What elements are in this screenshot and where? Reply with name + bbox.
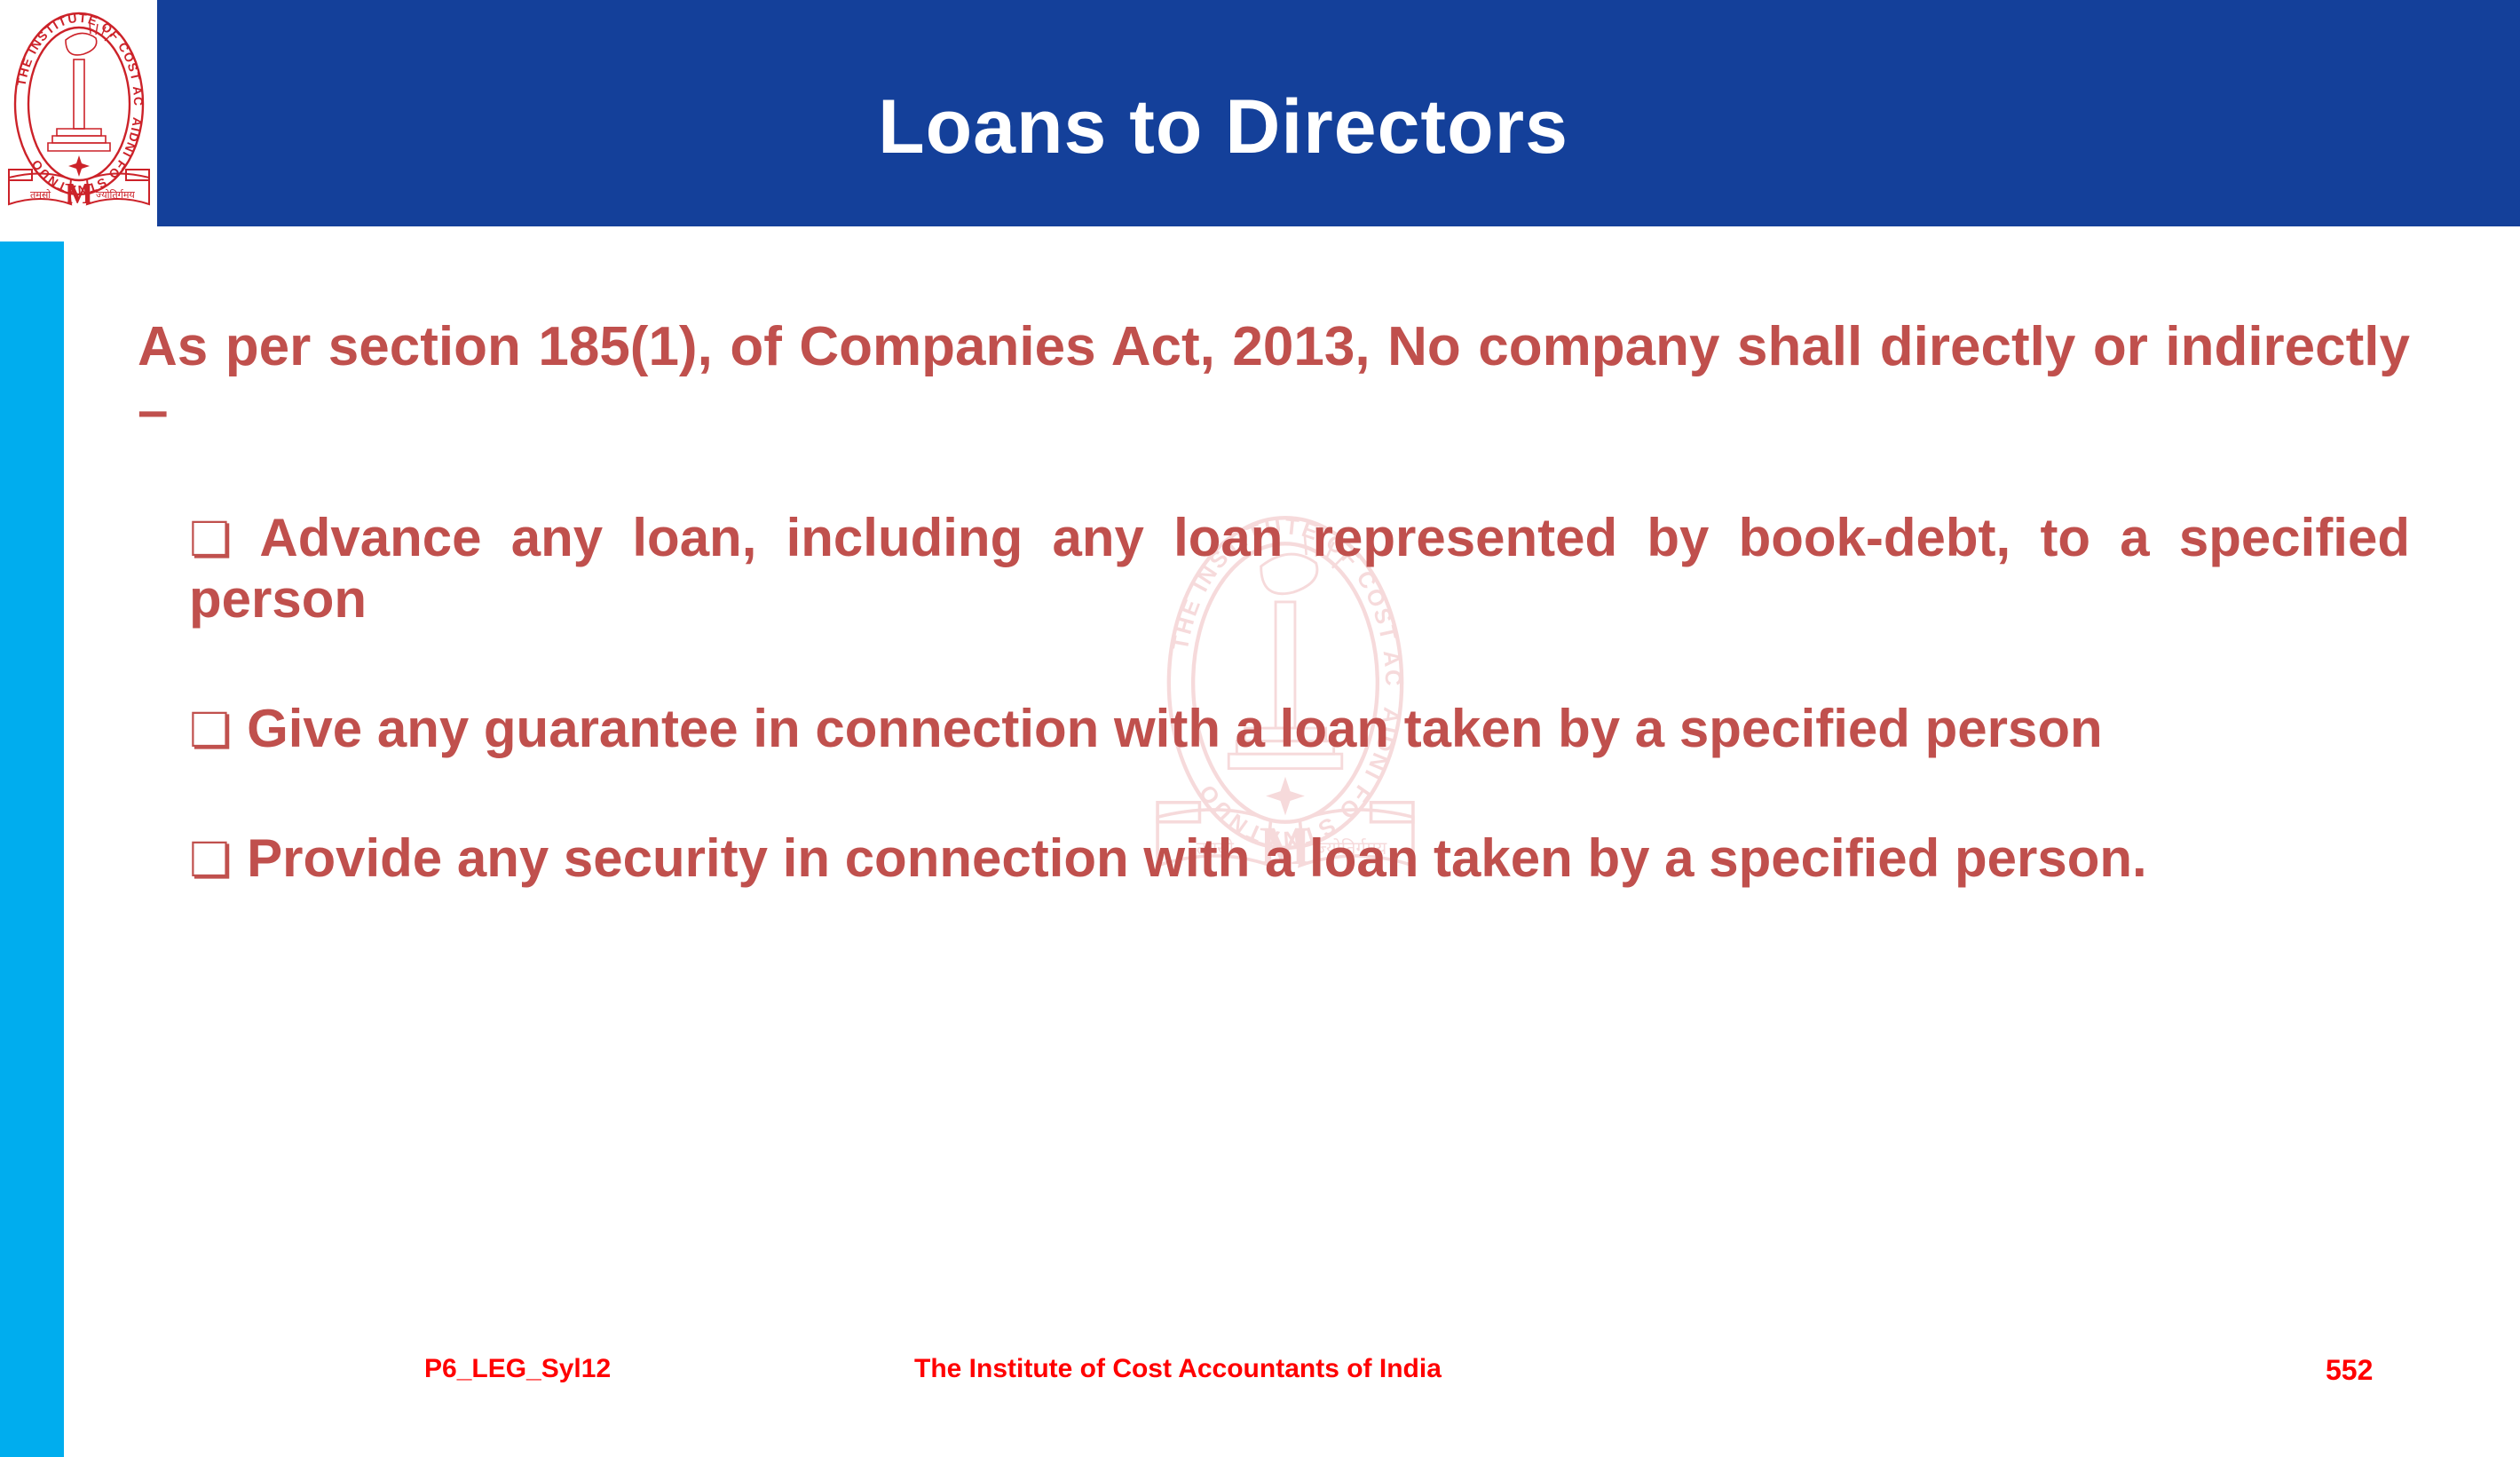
footer-subject-code: P6_LEG_Syl12 bbox=[424, 1354, 611, 1384]
footer-page-number: 552 bbox=[2326, 1354, 2373, 1387]
list-item: ❏ Advance any loan, including any loan r… bbox=[189, 507, 2410, 630]
slide-body: As per section 185(1), of Companies Act,… bbox=[138, 315, 2410, 889]
list-item: ❏ Provide any security in connection wit… bbox=[189, 827, 2410, 890]
svg-text:M: M bbox=[64, 178, 92, 210]
svg-text:तमसो: तमसो bbox=[30, 189, 51, 201]
slide: Loans to Directors bbox=[0, 0, 2520, 1457]
list-item: ❏ Give any guarantee in connection with … bbox=[189, 698, 2410, 760]
slide-footer: P6_LEG_Syl12 The Institute of Cost Accou… bbox=[0, 1354, 2520, 1416]
lead-paragraph: As per section 185(1), of Companies Act,… bbox=[138, 315, 2410, 443]
bullet-list: ❏ Advance any loan, including any loan r… bbox=[138, 507, 2410, 889]
svg-text:ज्योतिर्गमय: ज्योतिर्गमय bbox=[96, 189, 135, 201]
checkbox-bullet-icon: ❏ bbox=[189, 511, 232, 567]
list-item-text: Advance any loan, including any loan rep… bbox=[189, 508, 2410, 630]
page-title: Loans to Directors bbox=[878, 89, 1568, 165]
list-item-text: Give any guarantee in connection with a … bbox=[247, 699, 2103, 758]
icai-logo-icon: THE INSTITUTE OF COST ACC AIDNI FO STNAT… bbox=[4, 4, 154, 234]
checkbox-bullet-icon: ❏ bbox=[189, 832, 232, 888]
institute-logo: THE INSTITUTE OF COST ACC AIDNI FO STNAT… bbox=[0, 0, 157, 238]
footer-organisation: The Institute of Cost Accountants of Ind… bbox=[914, 1354, 1442, 1384]
checkbox-bullet-icon: ❏ bbox=[189, 702, 232, 758]
slide-header-band: Loans to Directors bbox=[157, 0, 2520, 226]
list-item-text: Provide any security in connection with … bbox=[247, 828, 2147, 888]
left-accent-strip bbox=[0, 242, 64, 1457]
